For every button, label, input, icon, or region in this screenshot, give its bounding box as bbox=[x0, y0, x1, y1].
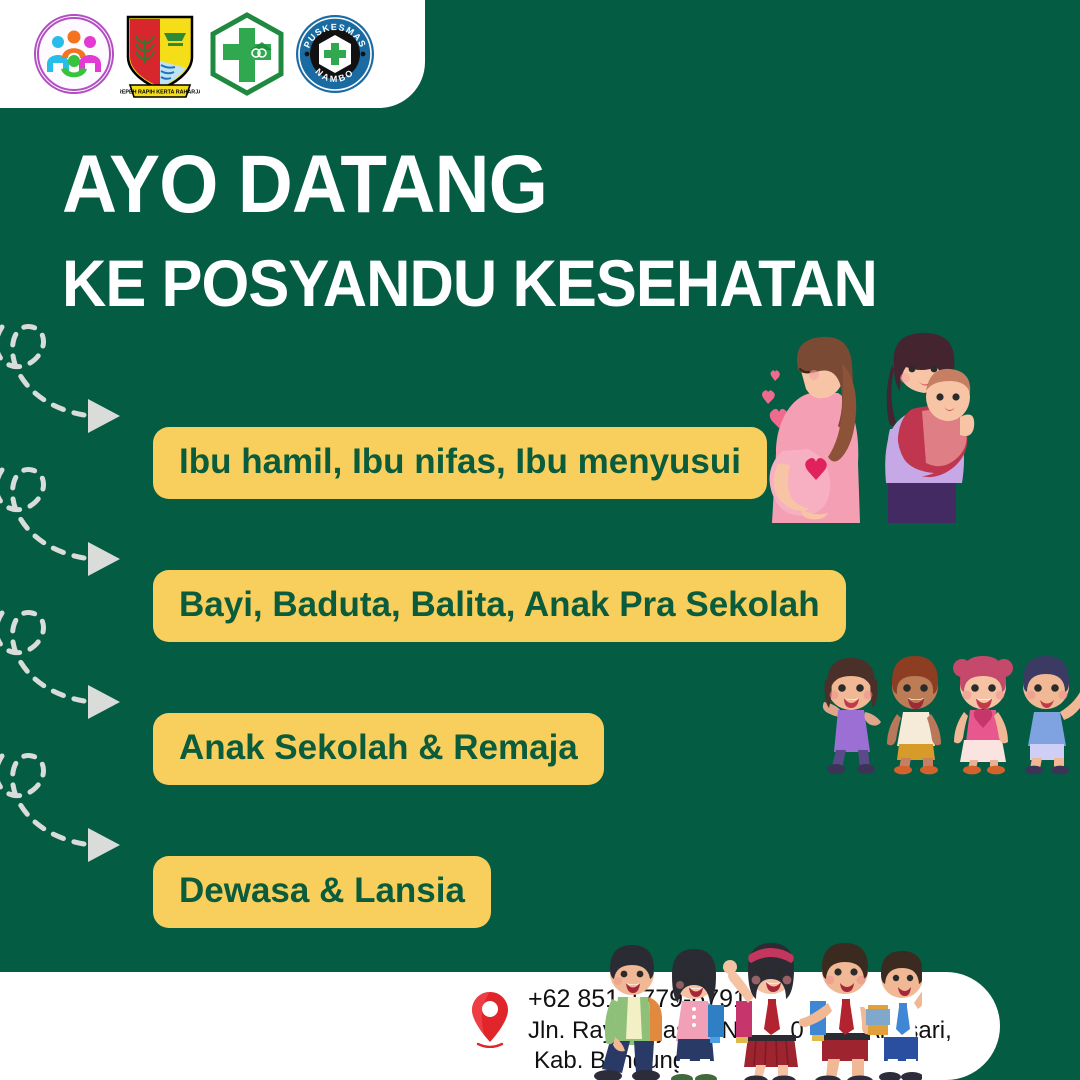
title-block: AYO DATANG KE POSYANDU KESEHATAN bbox=[62, 142, 1022, 318]
illustration-children-holding-hands bbox=[812, 650, 1080, 775]
dashed-arrow-decoration bbox=[0, 740, 142, 908]
dashed-arrow-decoration bbox=[0, 454, 142, 622]
coat-of-arms-motto: REPEH RAPIH KERTA RAHARJA bbox=[120, 90, 200, 96]
kabupaten-bandung-coat-of-arms: REPEH RAPIH KERTA RAHARJA bbox=[120, 11, 200, 97]
target-group-row: Ibu hamil, Ibu nifas, Ibu menyusui bbox=[0, 335, 1080, 478]
dashed-arrow-decoration bbox=[0, 311, 142, 479]
target-group-pill[interactable]: Bayi, Baduta, Balita, Anak Pra Sekolah bbox=[153, 570, 846, 642]
target-group-pill[interactable]: Ibu hamil, Ibu nifas, Ibu menyusui bbox=[153, 427, 767, 499]
poster-title-line1: AYO DATANG bbox=[62, 142, 955, 227]
header-logo-card: REPEH RAPIH KERTA RAHARJA bbox=[0, 0, 425, 108]
posyandu-family-logo bbox=[34, 14, 114, 94]
facility-name-label: PUSKESMAS NAMBO bbox=[44, 1008, 350, 1044]
dashed-arrow-decoration bbox=[0, 597, 142, 765]
location-pin-icon bbox=[470, 990, 510, 1048]
green-hexagon-cross-logo bbox=[206, 12, 288, 96]
poster-root: REPEH RAPIH KERTA RAHARJA bbox=[0, 0, 1080, 1080]
target-group-pill[interactable]: Anak Sekolah & Remaja bbox=[153, 713, 604, 785]
puskesmas-nambo-badge: PUSKESMAS NAMBO bbox=[294, 13, 376, 95]
target-group-pill[interactable]: Dewasa & Lansia bbox=[153, 856, 491, 928]
facility-name-pill: PUSKESMAS NAMBO bbox=[0, 990, 420, 1062]
target-group-rows: Ibu hamil, Ibu nifas, Ibu menyusui bbox=[0, 335, 1080, 907]
target-group-row: Dewasa & Lansia bbox=[0, 764, 1080, 907]
illustration-school-children bbox=[582, 941, 922, 1080]
poster-title-line2: KE POSYANDU KESEHATAN bbox=[62, 249, 955, 318]
illustration-pregnant-and-mother bbox=[742, 333, 1007, 528]
